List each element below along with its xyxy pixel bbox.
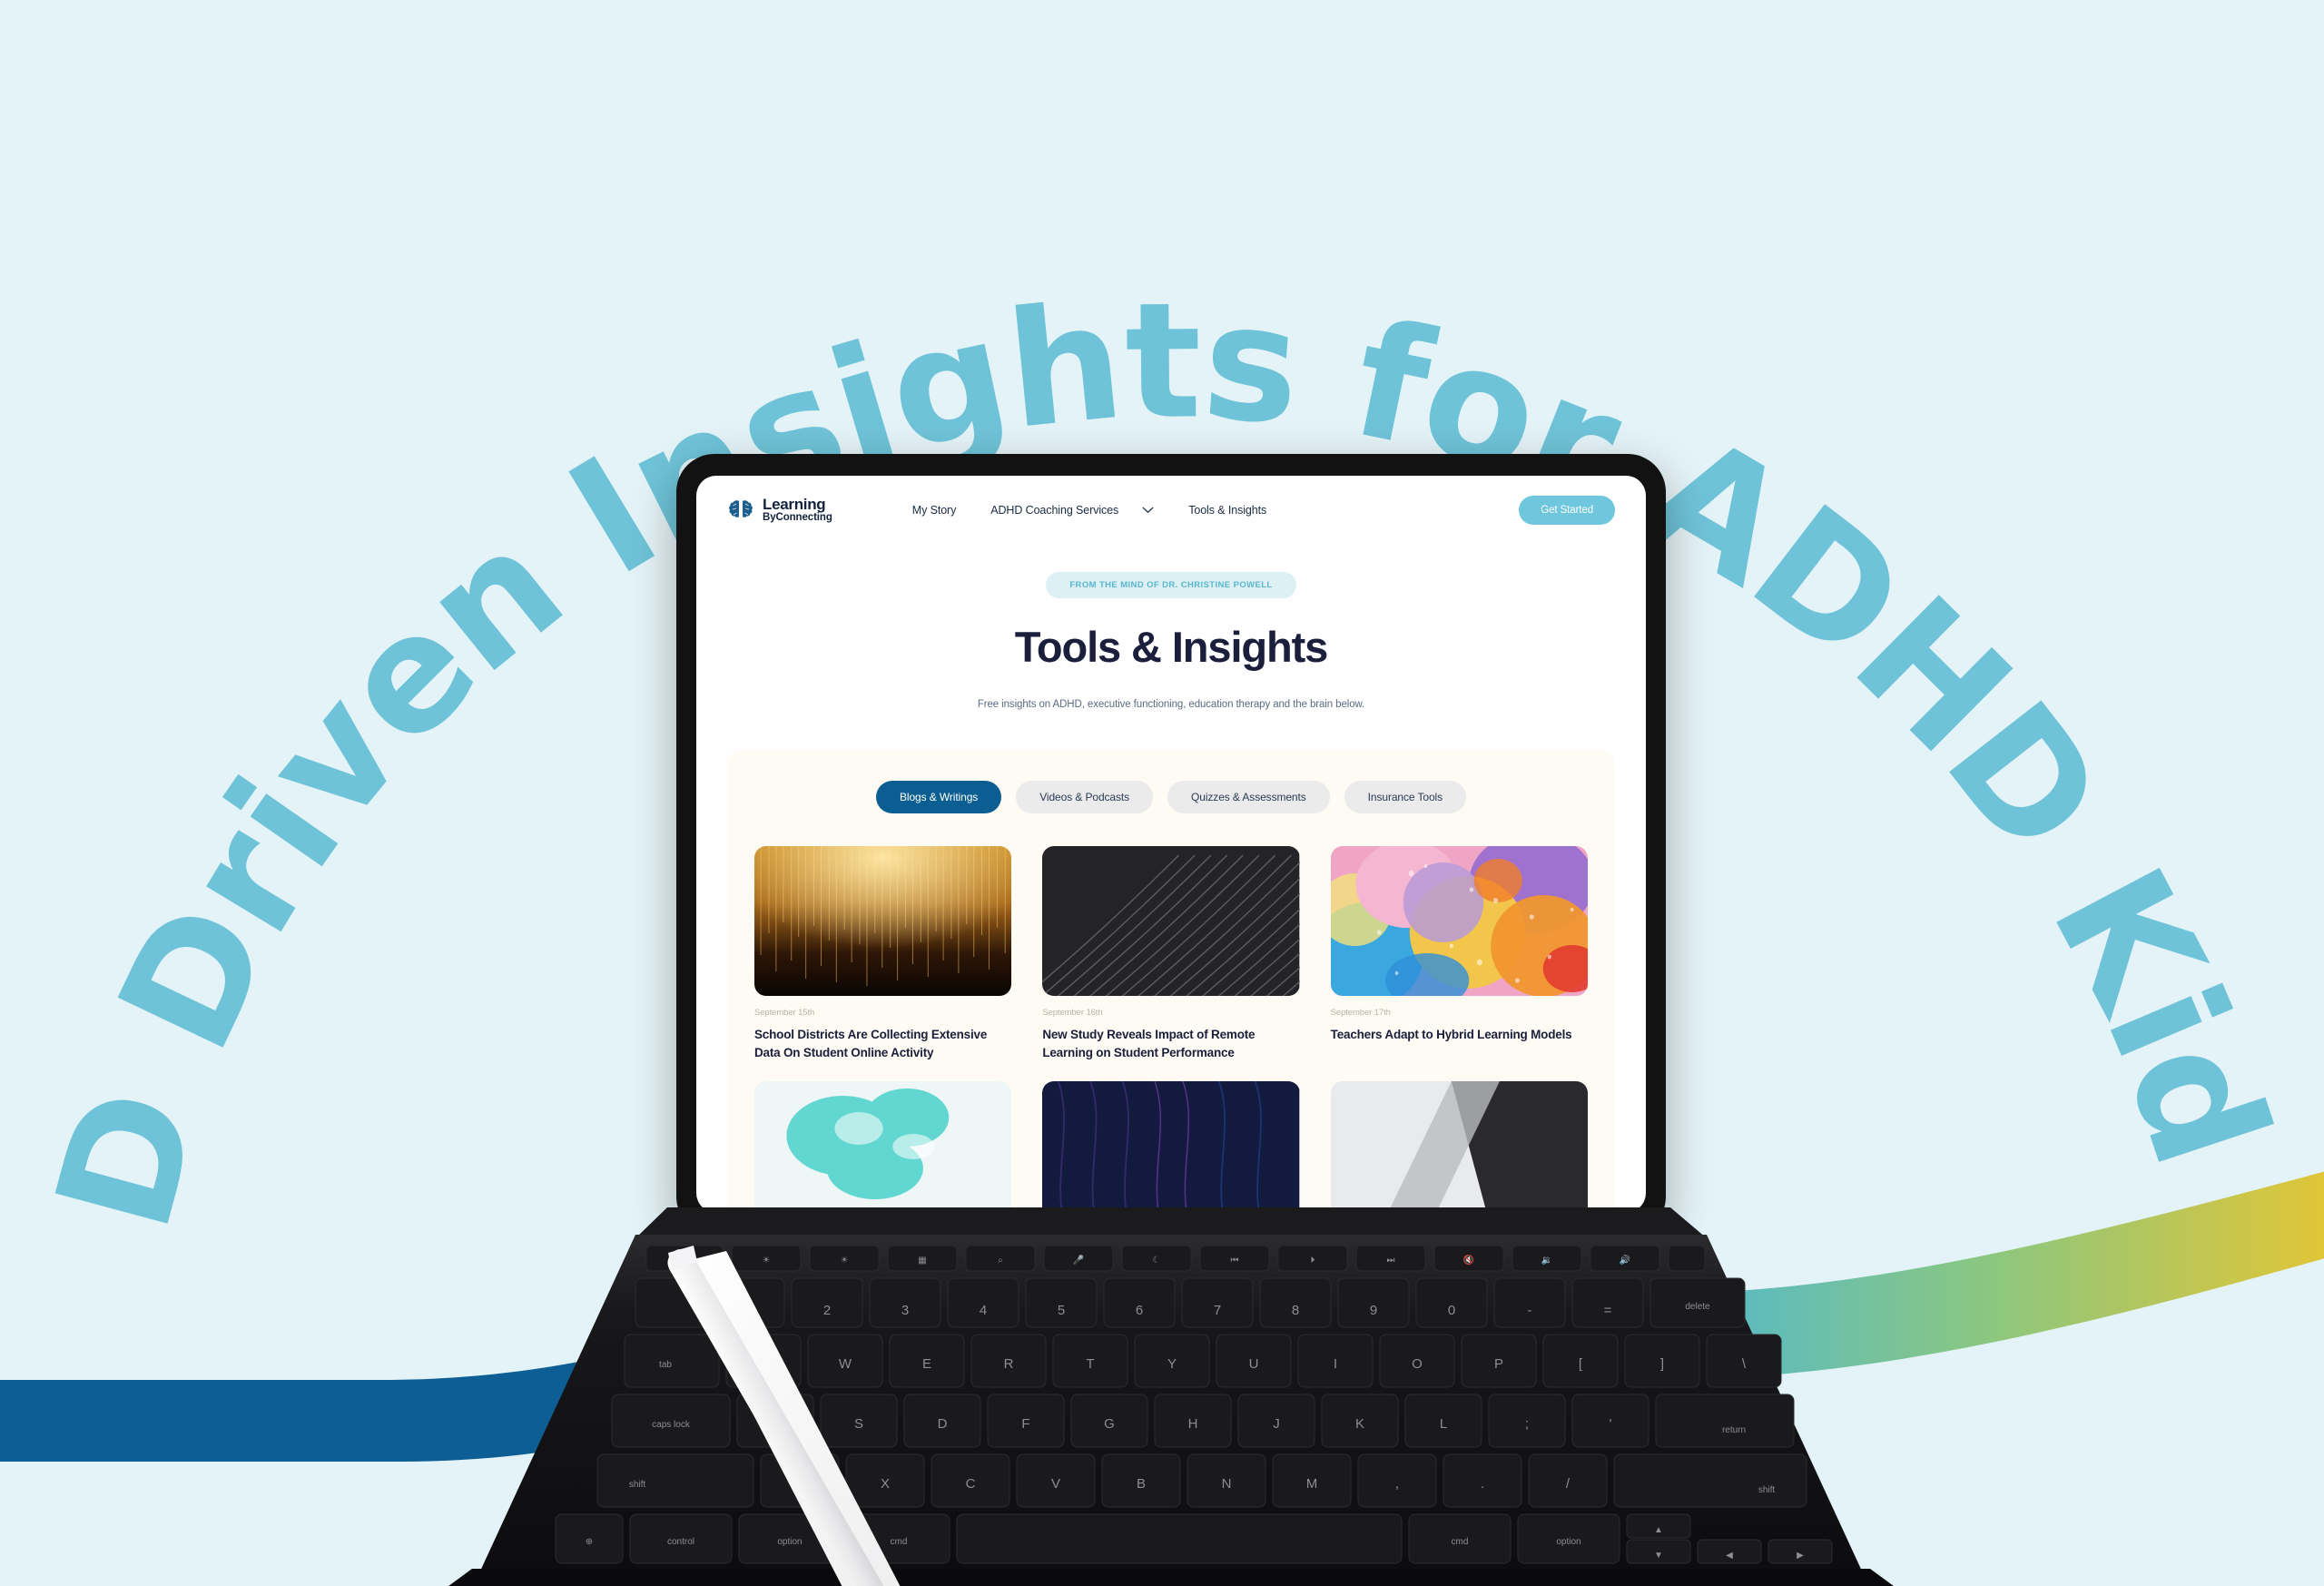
svg-text:cmd: cmd: [891, 1537, 908, 1547]
nav-item-adhd-coaching-services-label: ADHD Coaching Services: [990, 504, 1118, 517]
article-card[interactable]: September 15th School Districts Are Coll…: [754, 846, 1011, 1061]
page-title: Tools & Insights: [714, 622, 1628, 672]
svg-text:;: ;: [1525, 1416, 1529, 1432]
svg-text:tab: tab: [659, 1360, 672, 1370]
svg-text:N: N: [1222, 1476, 1232, 1492]
number-key-row[interactable]: 1 2 3 4 5 6 7 8 9 0 -: [635, 1278, 1745, 1327]
svg-text:6: 6: [1136, 1303, 1143, 1318]
tab-videos-podcasts[interactable]: Videos & Podcasts: [1016, 781, 1153, 813]
svg-text:▦: ▦: [918, 1256, 926, 1266]
content-panel: Blogs & Writings Videos & Podcasts Quizz…: [727, 750, 1615, 1213]
svg-text:U: U: [1249, 1356, 1259, 1372]
svg-text:S: S: [854, 1416, 863, 1432]
svg-text:O: O: [1412, 1356, 1423, 1372]
article-thumbnail-colorful-oil-bubbles: [1331, 846, 1588, 996]
svg-text:V: V: [1051, 1476, 1060, 1492]
svg-text:▲: ▲: [1654, 1525, 1663, 1535]
svg-text:F: F: [1021, 1416, 1029, 1432]
tab-blogs-writings[interactable]: Blogs & Writings: [876, 781, 1001, 813]
article-card[interactable]: [1042, 1081, 1299, 1213]
home-key-row[interactable]: caps lock A S D F G H J K L ;: [612, 1394, 1794, 1447]
article-card[interactable]: September 16th New Study Reveals Impact …: [1042, 846, 1299, 1061]
article-date: September 17th: [1331, 1008, 1588, 1018]
svg-text:⌕: ⌕: [998, 1256, 1003, 1266]
keyboard-lip: [445, 1569, 1897, 1586]
svg-text:C: C: [966, 1476, 976, 1492]
site-header: Learning ByConnecting My Story ADHD Coac…: [696, 476, 1646, 525]
svg-text:Z: Z: [795, 1476, 803, 1492]
svg-text:shift: shift: [1758, 1485, 1776, 1495]
svg-text:return: return: [1722, 1425, 1746, 1435]
svg-text:M: M: [1306, 1476, 1318, 1492]
svg-text:7: 7: [1214, 1303, 1221, 1318]
svg-text:2: 2: [823, 1303, 831, 1318]
article-thumbnail-teal-white-ink: [754, 1081, 1011, 1213]
svg-text:⊕: ⊕: [586, 1537, 593, 1547]
article-card[interactable]: [1331, 1081, 1588, 1213]
svg-text:8: 8: [1292, 1303, 1299, 1318]
svg-text:/: /: [1566, 1476, 1571, 1492]
nav-item-tools-insights[interactable]: Tools & Insights: [1188, 504, 1266, 517]
article-thumbnail-dark-diagonal-waves: [1042, 846, 1299, 996]
ribbon-gradient: [1652, 1162, 2324, 1380]
nav-item-adhd-coaching-services[interactable]: ADHD Coaching Services: [990, 504, 1154, 517]
svg-text:▼: ▼: [1654, 1551, 1663, 1561]
brand-line-1: Learning: [763, 497, 832, 513]
svg-text:cmd: cmd: [1452, 1537, 1469, 1547]
svg-text:🔇: 🔇: [1463, 1254, 1474, 1266]
function-key-row[interactable]: esc ☀ ☀ ▦ ⌕ 🎤 ☾ ⏮ ⏵ ⏭ 🔇: [646, 1246, 1705, 1271]
svg-text:option: option: [1556, 1537, 1581, 1547]
svg-text:H: H: [1188, 1416, 1198, 1432]
svg-text:5: 5: [1058, 1303, 1065, 1318]
article-title: School Districts Are Collecting Extensiv…: [754, 1026, 1011, 1061]
poster-canvas: PHD Driven Insights for ADHD Kiddos: [0, 0, 2324, 1586]
svg-text:T: T: [1086, 1356, 1094, 1372]
svg-text:🎤: 🎤: [1073, 1254, 1085, 1266]
svg-text:': ': [1610, 1416, 1612, 1432]
brain-icon: [727, 498, 754, 522]
tablet-device: Learning ByConnecting My Story ADHD Coac…: [676, 454, 1666, 1235]
svg-text:option: option: [777, 1537, 802, 1547]
svg-text:delete: delete: [1685, 1302, 1710, 1312]
svg-text:esc: esc: [677, 1256, 692, 1266]
svg-text:Q: Q: [758, 1356, 769, 1372]
svg-text:L: L: [1440, 1416, 1447, 1432]
svg-text:9: 9: [1370, 1303, 1377, 1318]
tablet-screen: Learning ByConnecting My Story ADHD Coac…: [696, 476, 1646, 1213]
svg-text:J: J: [1273, 1416, 1280, 1432]
svg-text:4: 4: [980, 1303, 987, 1318]
svg-text:I: I: [1334, 1356, 1337, 1372]
svg-text:control: control: [667, 1537, 694, 1547]
svg-text:Y: Y: [1167, 1356, 1177, 1372]
svg-text:.: .: [1481, 1476, 1484, 1492]
svg-text:⏭: ⏭: [1387, 1256, 1395, 1266]
article-grid: September 15th School Districts Are Coll…: [754, 846, 1588, 1213]
svg-text:]: ]: [1660, 1356, 1664, 1372]
svg-text:R: R: [1004, 1356, 1014, 1372]
svg-text:☀: ☀: [841, 1256, 849, 1266]
svg-text:-: -: [1528, 1303, 1532, 1318]
article-thumbnail-grayscale-abstract: [1331, 1081, 1588, 1213]
svg-text:0: 0: [1448, 1303, 1455, 1318]
hero-badge: FROM THE MIND OF DR. CHRISTINE POWELL: [1046, 572, 1295, 598]
content-tabs: Blogs & Writings Videos & Podcasts Quizz…: [754, 781, 1588, 813]
article-card[interactable]: September 17th Teachers Adapt to Hybrid …: [1331, 846, 1588, 1061]
svg-text:◀: ◀: [1726, 1551, 1733, 1561]
svg-text:🔊: 🔊: [1620, 1254, 1630, 1266]
svg-text:3: 3: [901, 1303, 909, 1318]
svg-text:☀: ☀: [763, 1256, 771, 1266]
svg-text:=: =: [1604, 1303, 1612, 1318]
svg-text:caps lock: caps lock: [652, 1420, 691, 1430]
hero-section: FROM THE MIND OF DR. CHRISTINE POWELL To…: [696, 525, 1646, 710]
svg-text:⏮: ⏮: [1231, 1256, 1239, 1266]
brand-wordmark: Learning ByConnecting: [763, 497, 832, 524]
svg-text:G: G: [1104, 1416, 1115, 1432]
keyboard-deck: [472, 1235, 1870, 1586]
svg-text:D: D: [938, 1416, 948, 1432]
brand-line-2: ByConnecting: [763, 513, 832, 524]
keyboard-base: esc ☀ ☀ ▦ ⌕ 🎤 ☾ ⏮ ⏵ ⏭ 🔇: [0, 1207, 2324, 1586]
svg-text:X: X: [881, 1476, 890, 1492]
svg-text:B: B: [1137, 1476, 1146, 1492]
key-rows[interactable]: esc ☀ ☀ ▦ ⌕ 🎤 ☾ ⏮ ⏵ ⏭ 🔇: [556, 1246, 1832, 1563]
svg-text:▶: ▶: [1797, 1551, 1804, 1561]
modifier-key-row[interactable]: ⊕ control option cmd cmd option ▲ ▼ ◀: [556, 1514, 1832, 1563]
brand-logo[interactable]: Learning ByConnecting: [727, 497, 832, 524]
svg-text:shift: shift: [629, 1480, 646, 1490]
article-title: New Study Reveals Impact of Remote Learn…: [1042, 1026, 1299, 1061]
article-date: September 15th: [754, 1008, 1011, 1018]
primary-nav: My Story ADHD Coaching Services Tools & …: [912, 504, 1266, 517]
article-thumbnail-golden-light-streaks: [754, 846, 1011, 996]
svg-text:A: A: [771, 1416, 780, 1432]
nav-item-my-story[interactable]: My Story: [912, 504, 957, 517]
hero-subtitle: Free insights on ADHD, executive functio…: [714, 699, 1628, 710]
svg-text:\: \: [1742, 1356, 1747, 1372]
tab-quizzes-assessments[interactable]: Quizzes & Assessments: [1167, 781, 1330, 813]
article-thumbnail-deep-blue-purple-fibers: [1042, 1081, 1299, 1213]
svg-text:E: E: [922, 1356, 931, 1372]
qwerty-key-row[interactable]: tab Q W E R T Y U I O P: [625, 1335, 1781, 1387]
article-card[interactable]: [754, 1081, 1011, 1213]
get-started-button[interactable]: Get Started: [1519, 496, 1615, 525]
tab-insurance-tools[interactable]: Insurance Tools: [1344, 781, 1466, 813]
svg-text:,: ,: [1395, 1476, 1399, 1492]
svg-text:K: K: [1355, 1416, 1364, 1432]
svg-text:W: W: [839, 1356, 852, 1372]
svg-text:☾: ☾: [1153, 1256, 1161, 1266]
bottom-letter-key-row[interactable]: shift Z X C V B N M , . /: [597, 1454, 1807, 1507]
svg-text:P: P: [1494, 1356, 1503, 1372]
svg-text:⏵: ⏵: [1311, 1256, 1315, 1266]
article-date: September 16th: [1042, 1008, 1299, 1018]
svg-text:🔉: 🔉: [1541, 1256, 1552, 1266]
apple-pencil-stylus[interactable]: [663, 1244, 1203, 1586]
svg-text:[: [: [1579, 1356, 1583, 1372]
svg-text:1: 1: [745, 1303, 753, 1318]
article-title: Teachers Adapt to Hybrid Learning Models: [1331, 1026, 1588, 1044]
chevron-down-icon: [1142, 507, 1154, 514]
